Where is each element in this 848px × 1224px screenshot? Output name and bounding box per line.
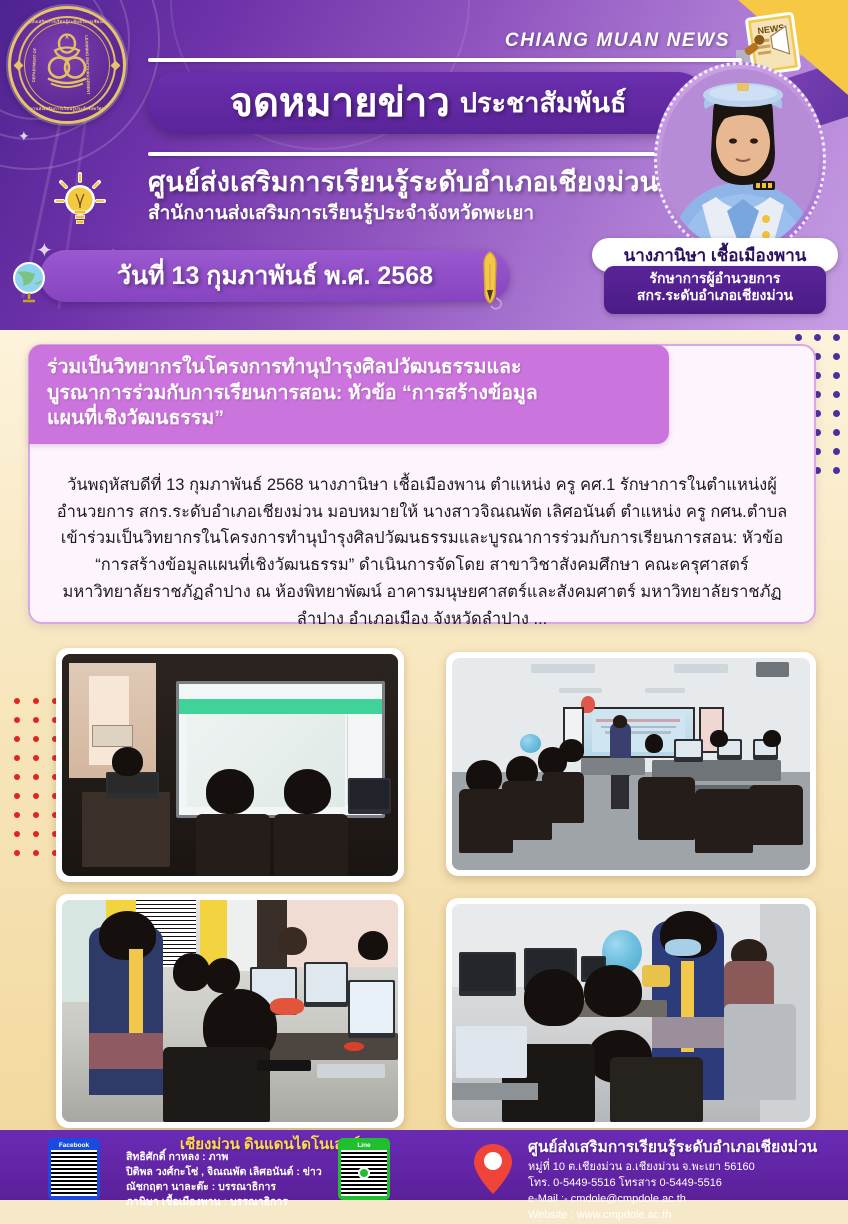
divider-middle [148, 152, 708, 156]
article-card: ร่วมเป็นวิทยากรในโครงการทำนุบำรุงศิลปวัฒ… [28, 344, 816, 624]
brand-label: CHIANG MUAN NEWS [505, 30, 730, 52]
office-phone: โทร. 0-5449-5516 โทรสาร 0-5449-5516 [528, 1176, 817, 1192]
credit-item: ภานิษา เชื้อเมืองพาน : บรรณาธิการ [126, 1195, 322, 1210]
location-pin-icon [472, 1142, 514, 1196]
article-headline: ร่วมเป็นวิทยากรในโครงการทำนุบำรุงศิลปวัฒ… [29, 345, 669, 444]
content-area: ร่วมเป็นวิทยากรในโครงการทำนุบำรุงศิลปวัฒ… [0, 330, 848, 1130]
decor-dots-left [14, 698, 58, 856]
director-portrait [661, 69, 819, 250]
director-role-line2: สกร.ระดับอำเภอเชียงม่วน [604, 287, 826, 304]
qr-facebook-code [51, 1150, 97, 1196]
qr-facebook[interactable]: Facebook [48, 1138, 100, 1200]
divider-top [148, 58, 742, 62]
article-body: วันพฤหัสบดีที่ 13 กุมภาพันธ์ 2568 นางภาน… [30, 472, 814, 650]
footer-bar: เชียงม่วน ดินแดนไดโนเสาร์ Facebook สิทธิ… [0, 1130, 848, 1200]
credit-item: ณัชกฤตา นาละต๊ะ : บรรณาธิการ [126, 1180, 322, 1195]
emblem-text-bottom: สำนักงานส่งเสริมการเรียนรู้ประจำจังหวัดพ… [11, 107, 123, 112]
emblem-crest-icon [38, 32, 96, 94]
photo-3[interactable] [56, 894, 404, 1128]
emblem-text-top: ศูนย์ส่งเสริมการเรียนรู้ระดับอำเภอเชียงม… [11, 20, 123, 25]
qr-facebook-label: Facebook [51, 1141, 97, 1150]
newsletter-title-pill: จดหมายข่าว ประชาสัมพันธ์ [148, 72, 708, 134]
lightbulb-icon [52, 170, 108, 232]
pen-icon [470, 250, 510, 312]
globe-icon [10, 260, 48, 304]
director-portrait-frame [654, 62, 826, 257]
credit-item: สิทธิศักดิ์ กาหลง : ภาพ [126, 1150, 322, 1165]
newsletter-page: ศูนย์ส่งเสริมการเรียนรู้ระดับอำเภอเชียงม… [0, 0, 848, 1200]
headline-line-2: บูรณาการร่วมกับการเรียนการสอน: หัวข้อ “ก… [47, 381, 653, 407]
office-address: หมู่ที่ 10 ต.เชียงม่วน อ.เชียงม่วน จ.พะเ… [528, 1160, 817, 1176]
subtitle-office: ศูนย์ส่งเสริมการเรียนรู้ระดับอำเภอเชียงม… [148, 160, 718, 203]
credits-list: สิทธิศักดิ์ กาหลง : ภาพ ปิติพล วงศ์กะโซ่… [126, 1150, 322, 1210]
headline-line-1: ร่วมเป็นวิทยากรในโครงการทำนุบำรุงศิลปวัฒ… [47, 355, 653, 381]
office-name: ศูนย์ส่งเสริมการเรียนรู้ระดับอำเภอเชียงม… [528, 1134, 817, 1159]
director-role-pill: รักษาการผู้อำนวยการ สกร.ระดับอำเภอเชียงม… [604, 266, 826, 314]
publication-date-pill: วันที่ 13 กุมภาพันธ์ พ.ศ. 2568 [40, 250, 510, 302]
publication-date: วันที่ 13 กุมภาพันธ์ พ.ศ. 2568 [117, 256, 433, 296]
contact-block: ศูนย์ส่งเสริมการเรียนรู้ระดับอำเภอเชียงม… [528, 1134, 817, 1224]
credit-item: ปิติพล วงศ์กะโซ่ , จิณณพัต เลิศอนันต์ : … [126, 1165, 322, 1180]
title-accent: ประชาสัมพันธ์ [460, 90, 627, 117]
qr-line[interactable]: Line [338, 1138, 390, 1200]
headline-line-3: แผนที่เชิงวัฒนธรรม” [47, 406, 653, 432]
sparkle-icon: ✦ [18, 128, 30, 145]
qr-line-code [341, 1150, 387, 1196]
qr-line-label: Line [341, 1141, 387, 1150]
photo-1[interactable] [56, 648, 404, 882]
director-role-line1: รักษาการผู้อำนวยการ [604, 270, 826, 287]
subtitle-province: สำนักงานส่งเสริมการเรียนรู้ประจำจังหวัดพ… [148, 198, 718, 228]
photo-4[interactable] [446, 898, 816, 1128]
director-name: นางภานิษา เชื้อเมืองพาน [624, 242, 807, 269]
organization-emblem: ศูนย์ส่งเสริมการเรียนรู้ระดับอำเภอเชียงม… [8, 6, 126, 124]
portrait-illustration [661, 69, 819, 250]
photo-2[interactable] [446, 652, 816, 876]
header-banner: ศูนย์ส่งเสริมการเรียนรู้ระดับอำเภอเชียงม… [0, 0, 848, 330]
office-website[interactable]: Website : www.cmpdole.ac.th [528, 1208, 817, 1224]
title-main: จดหมายข่าว [230, 83, 450, 123]
